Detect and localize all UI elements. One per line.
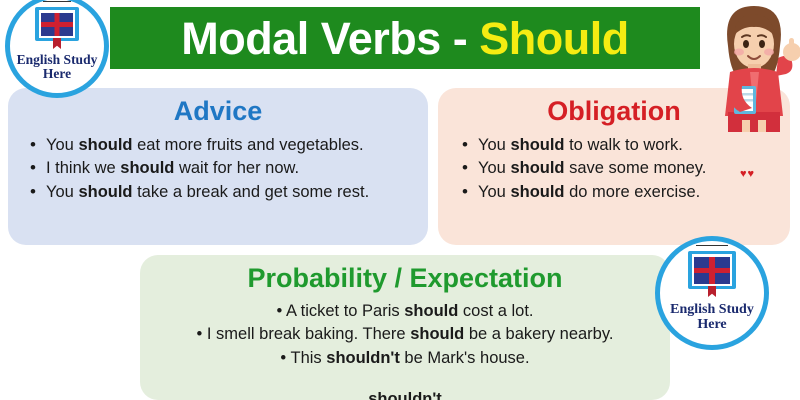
list-item: You should do more exercise. <box>462 181 782 204</box>
section-probability-heading: Probability / Expectation <box>140 255 670 292</box>
section-probability: Probability / Expectation A ticket to Pa… <box>140 255 670 400</box>
book-uk-flag-icon <box>688 251 736 289</box>
list-item: I smell break baking. There should be a … <box>140 323 670 346</box>
book-uk-flag-icon <box>35 7 79 41</box>
page-title-accent: Should <box>479 13 628 64</box>
brand-name-line2: Here <box>670 318 754 333</box>
list-item: You should save some money. <box>462 157 782 180</box>
brand-name-line1: English Study <box>670 303 754 318</box>
keyword-should: should <box>510 136 564 154</box>
brand-badge-bottom-right: English Study Here <box>655 236 769 350</box>
section-advice: Advice You should eat more fruits and ve… <box>8 88 428 245</box>
brand-badge-top-left: English Study Here <box>5 0 109 98</box>
list-item: You should eat more fruits and vegetable… <box>30 134 420 157</box>
section-probability-list: A ticket to Paris should cost a lot. I s… <box>140 292 670 370</box>
keyword-should: should <box>78 136 132 154</box>
title-bar: Modal Verbs - Should <box>110 7 700 69</box>
keyword-should: should <box>510 183 564 201</box>
section-obligation-list: You should to walk to work. You should s… <box>438 125 790 204</box>
list-item: You should to walk to work. <box>462 134 782 157</box>
keyword-should: should <box>510 159 564 177</box>
teacher-pointing-icon <box>700 0 800 132</box>
section-probability-cutoff-text: shouldn't <box>140 388 670 400</box>
list-item: I think we should wait for her now. <box>30 157 420 180</box>
list-item: You should take a break and get some res… <box>30 181 420 204</box>
page-title-main: Modal Verbs - <box>181 13 479 64</box>
keyword-should: should <box>410 325 464 343</box>
list-item: A ticket to Paris should cost a lot. <box>140 300 670 323</box>
keyword-should: should <box>120 159 174 177</box>
hearts-icon: ♥♥ <box>740 168 755 180</box>
keyword-should: shouldn't <box>326 349 400 367</box>
keyword-should: should <box>78 183 132 201</box>
keyword-should: should <box>404 302 458 320</box>
brand-name-line1: English Study <box>17 53 98 67</box>
section-advice-list: You should eat more fruits and vegetable… <box>8 125 428 204</box>
infographic-canvas: Modal Verbs - Should <box>0 0 800 400</box>
list-item: This shouldn't be Mark's house. <box>140 347 670 370</box>
brand-name-line2: Here <box>17 67 98 81</box>
page-title: Modal Verbs - Should <box>181 16 629 61</box>
